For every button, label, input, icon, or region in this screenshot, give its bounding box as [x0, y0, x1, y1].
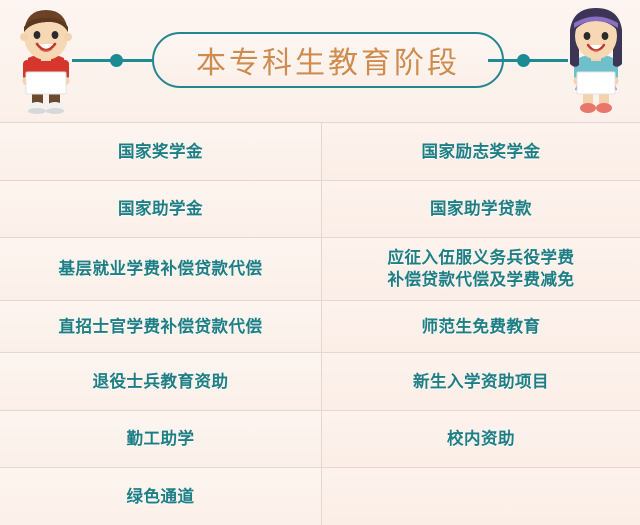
page-title: 本专科生教育阶段: [196, 38, 460, 82]
table-cell-right[interactable]: 新生入学资助项目: [322, 353, 640, 410]
table-cell-right[interactable]: 国家励志奖学金: [322, 123, 640, 180]
table-cell-right[interactable]: 师范生免费教育: [322, 301, 640, 352]
table-cell-left[interactable]: 直招士官学费补偿贷款代偿: [0, 301, 322, 352]
header-banner: 本专科生教育阶段: [0, 0, 640, 122]
table-cell-right[interactable]: 应征入伍服义务兵役学费 补偿贷款代偿及学费减免: [322, 238, 640, 300]
table-cell-right-empty: [322, 468, 640, 525]
table-cell-left[interactable]: 国家助学金: [0, 181, 322, 237]
table-cell-left[interactable]: 退役士兵教育资助: [0, 353, 322, 410]
table-cell-right-line1: 应征入伍服义务兵役学费: [388, 247, 575, 269]
table-cell-left[interactable]: 基层就业学费补偿贷款代偿: [0, 238, 322, 300]
table-row: 国家奖学金 国家励志奖学金: [0, 122, 640, 180]
table-row: 国家助学金 国家助学贷款: [0, 180, 640, 237]
table-cell-right[interactable]: 校内资助: [322, 411, 640, 467]
benefits-table: 国家奖学金 国家励志奖学金 国家助学金 国家助学贷款 基层就业学费补偿贷款代偿 …: [0, 122, 640, 525]
table-cell-left[interactable]: 勤工助学: [0, 411, 322, 467]
table-cell-left[interactable]: 国家奖学金: [0, 123, 322, 180]
title-frame: 本专科生教育阶段: [152, 32, 504, 88]
girl-student-icon: [556, 4, 636, 122]
table-cell-right[interactable]: 国家助学贷款: [322, 181, 640, 237]
boy-student-icon: [6, 4, 86, 122]
connector-stub-left: [122, 59, 152, 62]
table-row: 基层就业学费补偿贷款代偿 应征入伍服义务兵役学费 补偿贷款代偿及学费减免: [0, 237, 640, 300]
table-row: 绿色通道: [0, 467, 640, 525]
table-cell-right-line2: 补偿贷款代偿及学费减免: [388, 269, 575, 291]
table-row: 直招士官学费补偿贷款代偿 师范生免费教育: [0, 300, 640, 352]
connector-line-left: [72, 59, 114, 62]
table-row: 勤工助学 校内资助: [0, 410, 640, 467]
table-cell-left[interactable]: 绿色通道: [0, 468, 322, 525]
page-root: 本专科生教育阶段: [0, 0, 640, 525]
connector-stub-right: [488, 59, 518, 62]
table-row: 退役士兵教育资助 新生入学资助项目: [0, 352, 640, 410]
